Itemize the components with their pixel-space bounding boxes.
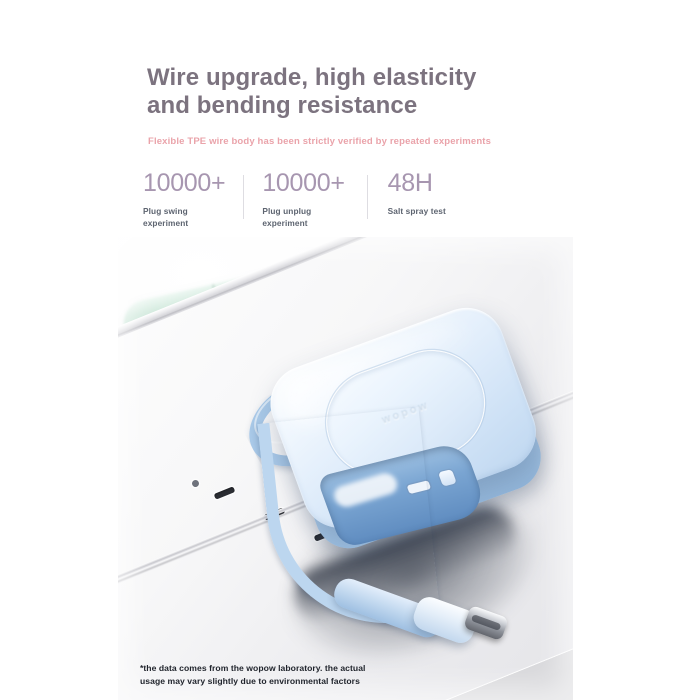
subtitle: Flexible TPE wire body has been strictly…: [148, 136, 568, 147]
stat-value: 48H: [388, 171, 446, 196]
headline-line-1: Wire upgrade, high elasticity: [147, 64, 476, 91]
product-marketing-page: Wire upgrade, high elasticity and bendin…: [0, 0, 700, 700]
stat-value: 10000+: [143, 171, 225, 196]
disclaimer-note: *the data comes from the wopow laborator…: [140, 662, 490, 689]
stat-divider-1: [243, 175, 244, 219]
stat-value: 10000+: [262, 171, 344, 196]
product-photo: wopow: [118, 237, 573, 700]
stat-label: Plug swing experiment: [143, 205, 225, 229]
stat-label: Salt spray test: [388, 205, 446, 217]
stat-label: Plug unplug experiment: [262, 205, 344, 229]
headline-line-2: and bending resistance: [147, 92, 567, 120]
photo-scene: wopow: [118, 237, 573, 700]
stat-salt-spray: 48H Salt spray test: [388, 171, 446, 217]
stat-plug-unplug: 10000+ Plug unplug experiment: [262, 171, 344, 229]
stats-row: 10000+ Plug swing experiment 10000+ Plug…: [143, 171, 446, 229]
stat-divider-2: [367, 175, 368, 219]
page-title: Wire upgrade, high elasticity and bendin…: [147, 64, 567, 121]
stat-plug-swing: 10000+ Plug swing experiment: [143, 171, 225, 229]
